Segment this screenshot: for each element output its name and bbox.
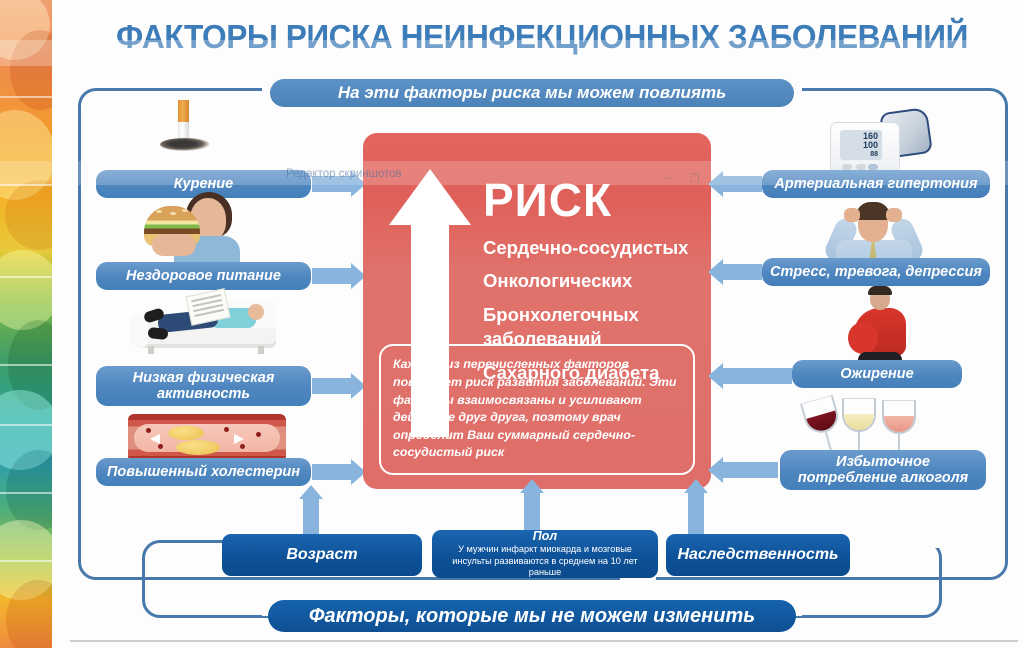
banner-non-modifiable-label: Факторы, которые мы не можем изменить	[309, 605, 755, 627]
risk-item-oncology: Онкологических	[483, 269, 701, 293]
infographic-poster: ФАКТОРЫ РИСКА НЕИНФЕКЦИОННЫХ ЗАБОЛЕВАНИЙ…	[0, 0, 1024, 648]
fixed-factor-age-title: Возраст	[286, 546, 357, 564]
bp-pulse: 88	[870, 151, 878, 158]
decorative-edge-pattern	[0, 0, 52, 648]
factor-unhealthy-diet[interactable]: Нездоровое питание	[96, 262, 311, 290]
factor-arterial-hypertension-label: Артериальная гипертония	[774, 176, 977, 192]
factor-excess-alcohol-label: Избыточное потребление алкоголя	[788, 454, 978, 486]
bottom-divider	[70, 640, 1018, 642]
risk-heading: РИСК	[483, 173, 701, 227]
risk-item-cardiovascular: Сердечно-сосудистых	[483, 236, 701, 260]
factor-high-cholesterol[interactable]: Повышенный холестерин	[96, 458, 311, 486]
banner-non-modifiable: Факторы, которые мы не можем изменить	[268, 600, 796, 632]
arrow-alcohol-to-risk	[722, 462, 778, 478]
edge-whitespace	[52, 0, 62, 648]
arrow-heredity-to-risk	[688, 492, 704, 538]
bp-screen: 160 100 88	[840, 130, 882, 160]
factor-high-cholesterol-label: Повышенный холестерин	[107, 464, 300, 480]
factor-excess-alcohol[interactable]: Избыточное потребление алкоголя	[780, 450, 986, 490]
factor-stress-label: Стресс, тревога, депрессия	[770, 264, 982, 280]
fixed-factor-heredity-title: Наследственность	[677, 546, 838, 564]
obese-man-photo	[840, 286, 926, 360]
arrow-diet-to-risk	[312, 268, 352, 284]
fixed-factor-gender-subtitle: У мужчин инфаркт миокарда и мозговые инс…	[440, 544, 650, 579]
factor-obesity[interactable]: Ожирение	[792, 360, 962, 388]
fixed-factor-gender[interactable]: Пол У мужчин инфаркт миокарда и мозговые…	[432, 530, 658, 578]
factor-low-physical-activity-label: Низкая физическая активность	[104, 370, 303, 402]
burger-eating-photo	[140, 190, 250, 268]
cigarette-photo	[150, 100, 230, 156]
factor-low-physical-activity[interactable]: Низкая физическая активность	[96, 366, 311, 406]
artery-plaque-photo	[128, 414, 286, 462]
arrow-smoking-to-risk	[312, 176, 352, 192]
risk-explanation-note: Каждый из перечисленных факторов повышае…	[379, 344, 695, 475]
bp-diastolic: 100	[863, 141, 878, 150]
arrow-activity-to-risk	[312, 378, 352, 394]
banner-modifiable: На эти факторы риска мы можем повлиять	[270, 79, 794, 107]
fixed-factor-heredity[interactable]: Наследственность	[666, 534, 850, 576]
arrow-age-to-risk	[303, 498, 319, 538]
factor-obesity-label: Ожирение	[840, 366, 913, 382]
risk-central-box: РИСК Сердечно-сосудистых Онкологических …	[363, 133, 711, 489]
factor-stress-anxiety-depression[interactable]: Стресс, тревога, депрессия	[762, 258, 990, 286]
fixed-factor-gender-title: Пол	[533, 529, 557, 543]
arrow-obesity-to-risk	[722, 368, 792, 384]
man-on-sofa-photo	[126, 288, 296, 358]
arrow-stress-to-risk	[722, 264, 762, 280]
factor-arterial-hypertension[interactable]: Артериальная гипертония	[762, 170, 990, 198]
page-title: ФАКТОРЫ РИСКА НЕИНФЕКЦИОННЫХ ЗАБОЛЕВАНИЙ	[89, 18, 995, 56]
banner-modifiable-label: На эти факторы риска мы можем повлиять	[338, 84, 726, 103]
factor-unhealthy-diet-label: Нездоровое питание	[126, 268, 281, 284]
fixed-factor-age[interactable]: Возраст	[222, 534, 422, 576]
arrow-cholesterol-to-risk	[312, 464, 352, 480]
arrow-hypertension-to-risk	[722, 176, 762, 192]
